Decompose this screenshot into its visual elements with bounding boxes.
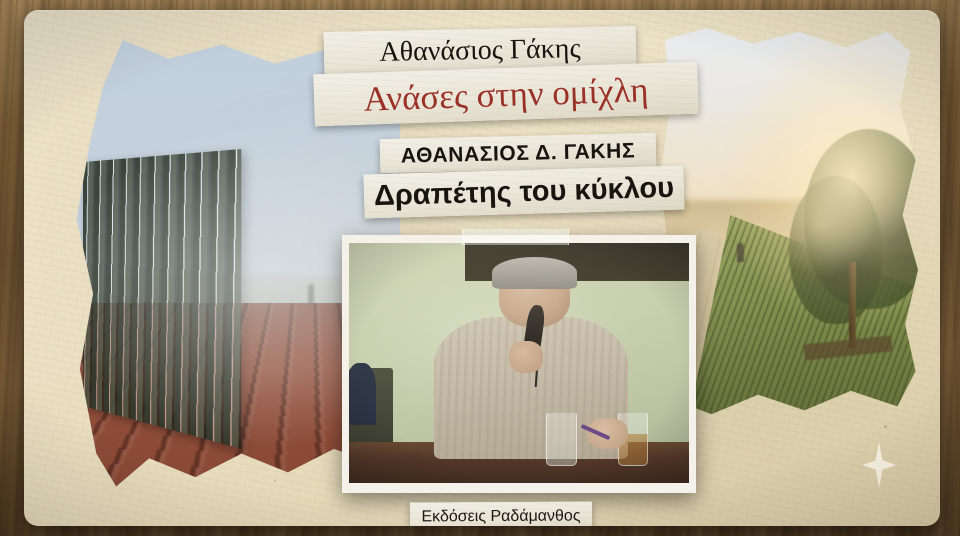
paper-card: Αθανάσιος Γάκης Ανάσες στην ομίχλη ΑΘΑΝΑ… [24, 10, 940, 526]
video-inner [349, 243, 689, 483]
misty-road-photo [660, 28, 918, 418]
speaker-video-still[interactable] [342, 235, 696, 493]
banner-publisher: Εκδόσεις Ραδάμανθος [410, 502, 592, 526]
banner-publisher-text: Εκδόσεις Ραδάμανθος [421, 508, 580, 525]
tape-strip [462, 229, 568, 245]
road-sun-glow [660, 28, 918, 418]
sparkle-icon [862, 442, 896, 488]
banner-author-caps-text: ΑΘΑΝΑΣΙΟΣ Δ. ΓΑΚΗΣ [401, 140, 636, 166]
banner-author-serif-text: Αθανάσιος Γάκης [379, 35, 581, 67]
paper-speck [274, 480, 276, 482]
banner-title-sans-text: Δραπέτης του κύκλου [374, 173, 675, 210]
banner-title-serif-text: Ανάσες στην ομίχλη [363, 72, 649, 116]
wooden-desk-background: Αθανάσιος Γάκης Ανάσες στην ομίχλη ΑΘΑΝΑ… [0, 0, 960, 536]
paper-speck [884, 425, 887, 428]
video-vignette [349, 243, 689, 483]
banner-title-sans: Δραπέτης του κύκλου [363, 166, 684, 219]
